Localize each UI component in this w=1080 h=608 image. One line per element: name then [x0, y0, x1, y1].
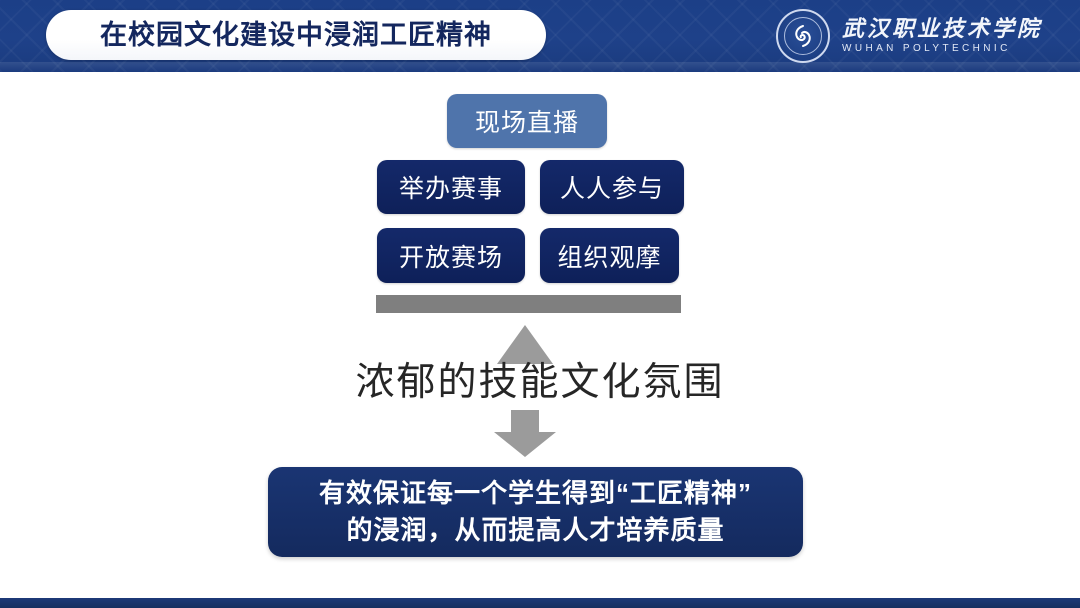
- conclusion-line-2: 的浸润，从而提高人才培养质量: [346, 512, 724, 549]
- university-seal-icon: [776, 9, 830, 63]
- brand-logo: 武汉职业技术学院 WUHAN POLYTECHNIC: [776, 8, 1042, 64]
- slide-footer-strip: [0, 598, 1080, 608]
- conclusion-box: 有效保证每一个学生得到“工匠精神” 的浸润，从而提高人才培养质量: [268, 467, 803, 557]
- block-arrow-down-icon: [494, 410, 556, 457]
- block-arrow-down-glyph: [494, 410, 556, 457]
- page-title: 在校园文化建设中浸润工匠精神: [100, 22, 492, 49]
- diagram-node-open-venue: 开放赛场: [377, 228, 525, 283]
- conclusion-line-1: 有效保证每一个学生得到“工匠精神”: [319, 475, 752, 512]
- brand-name-en: WUHAN POLYTECHNIC: [842, 43, 1042, 55]
- brand-names: 武汉职业技术学院 WUHAN POLYTECHNIC: [842, 17, 1042, 55]
- diagram-node-live-broadcast: 现场直播: [447, 94, 607, 148]
- triangle-up-icon: [497, 325, 553, 364]
- diagram-node-everyone-participates: 人人参与: [540, 160, 684, 214]
- slide-canvas: 在校园文化建设中浸润工匠精神 武汉职业技术学院 WUHAN POLYTECHNI…: [0, 0, 1080, 608]
- diagram-divider-bar: [376, 295, 681, 313]
- brand-name-cn: 武汉职业技术学院: [842, 17, 1042, 41]
- diagram-node-host-competition: 举办赛事: [377, 160, 525, 214]
- diagram-node-organized-observation: 组织观摩: [540, 228, 679, 283]
- diagram-middle-text: 浓郁的技能文化氛围: [0, 362, 1080, 405]
- seal-swirl-icon: [791, 24, 815, 48]
- page-title-pill: 在校园文化建设中浸润工匠精神: [46, 10, 546, 60]
